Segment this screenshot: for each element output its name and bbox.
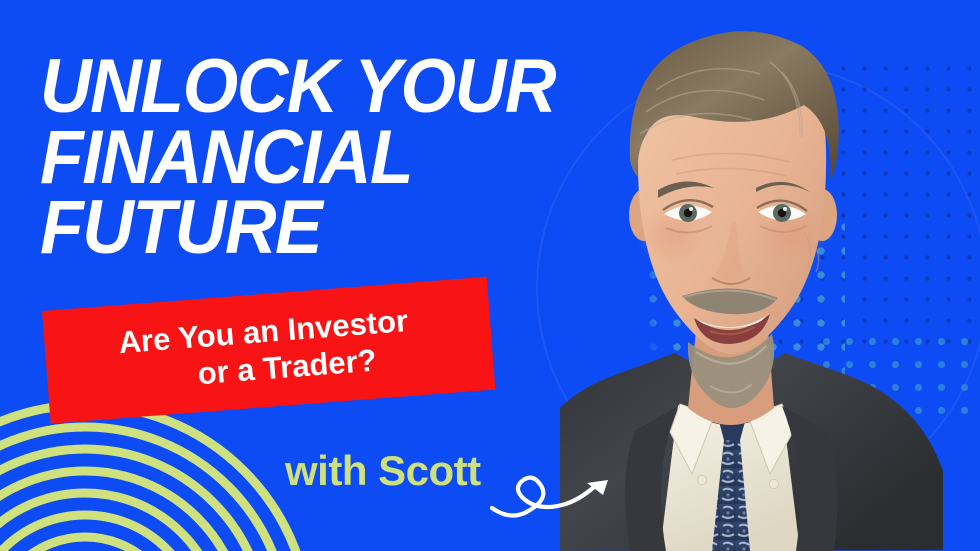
host-portrait bbox=[560, 0, 980, 551]
headline-line-3: Future bbox=[40, 193, 548, 264]
host-byline: with Scott bbox=[285, 447, 481, 495]
headline-line-1: Unlock Your bbox=[40, 52, 548, 123]
subtitle-banner: Are You an Investor or a Trader? bbox=[42, 277, 495, 424]
thumbnail-canvas: Unlock Your Financial Future Are You an … bbox=[0, 0, 980, 551]
curly-loop-arrow-icon bbox=[490, 448, 615, 528]
headline-line-2: Financial bbox=[40, 123, 548, 194]
page-title: Unlock Your Financial Future bbox=[40, 52, 548, 264]
concentric-arc-rings-icon bbox=[0, 395, 320, 551]
